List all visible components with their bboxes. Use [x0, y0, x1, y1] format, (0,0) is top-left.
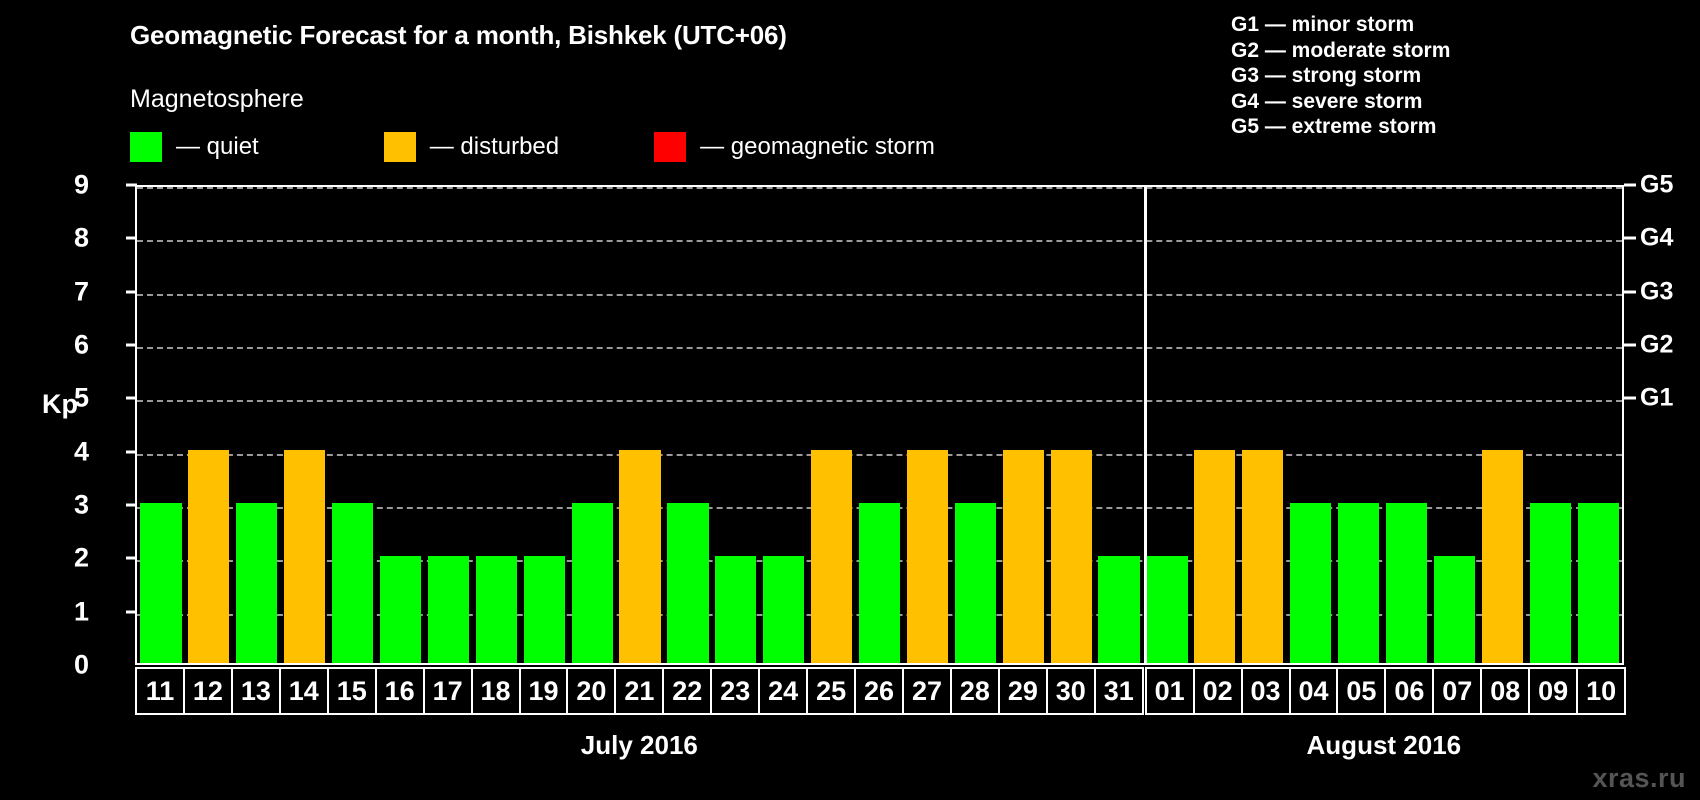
bar[interactable]: [667, 503, 708, 663]
month-divider: [1144, 187, 1147, 663]
bar[interactable]: [763, 556, 804, 663]
bar-cell[interactable]: [999, 187, 1047, 663]
y-axis-tick-label: 1: [43, 596, 89, 627]
bar-cell[interactable]: [520, 187, 568, 663]
bar[interactable]: [1098, 556, 1139, 663]
date-label[interactable]: 04: [1289, 667, 1339, 715]
date-label[interactable]: 07: [1432, 667, 1482, 715]
date-label[interactable]: 17: [423, 667, 473, 715]
bar-cell[interactable]: [1095, 187, 1143, 663]
page-title: Geomagnetic Forecast for a month, Bishke…: [130, 20, 787, 51]
legend-label-quiet: — quiet: [176, 133, 259, 161]
bar-cell[interactable]: [1287, 187, 1335, 663]
bar[interactable]: [236, 503, 277, 663]
bar-cell[interactable]: [664, 187, 712, 663]
g-axis-tick: [1624, 290, 1636, 293]
y-axis-tick-label: 0: [43, 650, 89, 681]
bar-cell[interactable]: [616, 187, 664, 663]
y-axis-tick-label: 2: [43, 543, 89, 574]
bar[interactable]: [1242, 450, 1283, 663]
date-label[interactable]: 12: [183, 667, 233, 715]
bar-cell[interactable]: [1143, 187, 1191, 663]
bar[interactable]: [188, 450, 229, 663]
date-label[interactable]: 26: [854, 667, 904, 715]
bar-cell[interactable]: [904, 187, 952, 663]
date-label[interactable]: 29: [998, 667, 1048, 715]
y-axis-tick-label: 8: [43, 223, 89, 254]
g-axis-label: G1: [1640, 384, 1673, 413]
y-axis-tick-label: 4: [43, 436, 89, 467]
watermark: xras.ru: [1592, 763, 1686, 794]
bar[interactable]: [1194, 450, 1235, 663]
bar[interactable]: [1530, 503, 1571, 663]
bar[interactable]: [811, 450, 852, 663]
storm-scale-g1: G1 — minor storm: [1231, 12, 1450, 38]
date-label[interactable]: 13: [231, 667, 281, 715]
bar[interactable]: [715, 556, 756, 663]
bar-cell[interactable]: [1047, 187, 1095, 663]
date-label[interactable]: 25: [806, 667, 856, 715]
date-label[interactable]: 08: [1480, 667, 1530, 715]
bar-cell[interactable]: [1239, 187, 1287, 663]
date-label[interactable]: 27: [902, 667, 952, 715]
bar-cell[interactable]: [951, 187, 999, 663]
legend-label-disturbed: — disturbed: [430, 133, 559, 161]
bar-cell[interactable]: [185, 187, 233, 663]
date-label[interactable]: 09: [1528, 667, 1578, 715]
date-label[interactable]: 10: [1576, 667, 1626, 715]
bar[interactable]: [1482, 450, 1523, 663]
bar-cell[interactable]: [137, 187, 185, 663]
date-label[interactable]: 03: [1241, 667, 1291, 715]
storm-scale-legend: G1 — minor storm G2 — moderate storm G3 …: [1231, 12, 1450, 140]
storm-scale-g2: G2 — moderate storm: [1231, 38, 1450, 64]
date-label[interactable]: 28: [950, 667, 1000, 715]
g-axis-label: G2: [1640, 331, 1673, 360]
bar-cell[interactable]: [1526, 187, 1574, 663]
quiet-swatch: [130, 132, 162, 162]
y-axis-tick-label: 5: [43, 383, 89, 414]
g-axis-label: G5: [1640, 171, 1673, 200]
y-axis-tick-label: 7: [43, 276, 89, 307]
bar[interactable]: [140, 503, 181, 663]
month-label: August 2016: [1307, 730, 1462, 761]
bar[interactable]: [1003, 450, 1044, 663]
bar-cell[interactable]: [1335, 187, 1383, 663]
bar-cell[interactable]: [377, 187, 425, 663]
legend-item-storm: — geomagnetic storm: [654, 132, 935, 162]
date-label[interactable]: 01: [1145, 667, 1195, 715]
bar-cell[interactable]: [1430, 187, 1478, 663]
bar[interactable]: [284, 450, 325, 663]
date-label[interactable]: 19: [519, 667, 569, 715]
date-label[interactable]: 02: [1193, 667, 1243, 715]
disturbed-swatch: [384, 132, 416, 162]
date-label[interactable]: 11: [135, 667, 185, 715]
date-label[interactable]: 23: [710, 667, 760, 715]
date-label[interactable]: 15: [327, 667, 377, 715]
date-axis: 1112131415161718192021222324252627282930…: [135, 667, 1624, 715]
bar[interactable]: [380, 556, 421, 663]
legend: — quiet — disturbed — geomagnetic storm: [130, 132, 935, 162]
g-axis-tick: [1624, 184, 1636, 187]
date-label[interactable]: 30: [1046, 667, 1096, 715]
bar-cell[interactable]: [233, 187, 281, 663]
plot-area: [135, 185, 1624, 665]
date-label[interactable]: 21: [614, 667, 664, 715]
bar[interactable]: [524, 556, 565, 663]
legend-label-storm: — geomagnetic storm: [700, 133, 935, 161]
bar[interactable]: [572, 503, 613, 663]
bar[interactable]: [1290, 503, 1331, 663]
g-axis-tick: [1624, 237, 1636, 240]
bar[interactable]: [476, 556, 517, 663]
bar-cell[interactable]: [329, 187, 377, 663]
bar-cell[interactable]: [424, 187, 472, 663]
bar-cell[interactable]: [808, 187, 856, 663]
storm-scale-g5: G5 — extreme storm: [1231, 114, 1450, 140]
bar-cell[interactable]: [1191, 187, 1239, 663]
date-label[interactable]: 16: [375, 667, 425, 715]
bar[interactable]: [1146, 556, 1187, 663]
g-axis-tick: [1624, 344, 1636, 347]
bar[interactable]: [1051, 450, 1092, 663]
legend-item-disturbed: — disturbed: [384, 132, 559, 162]
bar-series: [137, 187, 1622, 663]
g-axis-label: G3: [1640, 277, 1673, 306]
date-label[interactable]: 31: [1094, 667, 1144, 715]
bar-cell[interactable]: [281, 187, 329, 663]
date-label[interactable]: 05: [1336, 667, 1386, 715]
y-axis-tick-label: 6: [43, 330, 89, 361]
month-label: July 2016: [581, 730, 698, 761]
date-label[interactable]: 18: [471, 667, 521, 715]
date-label[interactable]: 20: [566, 667, 616, 715]
date-label[interactable]: 06: [1384, 667, 1434, 715]
legend-item-quiet: — quiet: [130, 132, 259, 162]
bar-cell[interactable]: [856, 187, 904, 663]
y-axis-tick-label: 9: [43, 170, 89, 201]
bar[interactable]: [1434, 556, 1475, 663]
bar[interactable]: [332, 503, 373, 663]
bar-cell[interactable]: [472, 187, 520, 663]
chart-page: Geomagnetic Forecast for a month, Bishke…: [0, 0, 1700, 800]
y-axis-tick-label: 3: [43, 490, 89, 521]
bar-cell[interactable]: [1383, 187, 1431, 663]
storm-swatch: [654, 132, 686, 162]
bar[interactable]: [619, 450, 660, 663]
storm-scale-g3: G3 — strong storm: [1231, 63, 1450, 89]
bar[interactable]: [1338, 503, 1379, 663]
date-label[interactable]: 14: [279, 667, 329, 715]
g-axis-label: G4: [1640, 224, 1673, 253]
bar-cell[interactable]: [712, 187, 760, 663]
bar[interactable]: [907, 450, 948, 663]
date-label[interactable]: 24: [758, 667, 808, 715]
g-axis-tick: [1624, 397, 1636, 400]
bar[interactable]: [859, 503, 900, 663]
bar-cell[interactable]: [568, 187, 616, 663]
bar-cell[interactable]: [760, 187, 808, 663]
bar[interactable]: [1386, 503, 1427, 663]
storm-scale-g4: G4 — severe storm: [1231, 89, 1450, 115]
bar-cell[interactable]: [1574, 187, 1622, 663]
bar[interactable]: [428, 556, 469, 663]
bar[interactable]: [955, 503, 996, 663]
bar-cell[interactable]: [1478, 187, 1526, 663]
date-label[interactable]: 22: [662, 667, 712, 715]
bar[interactable]: [1578, 503, 1619, 663]
